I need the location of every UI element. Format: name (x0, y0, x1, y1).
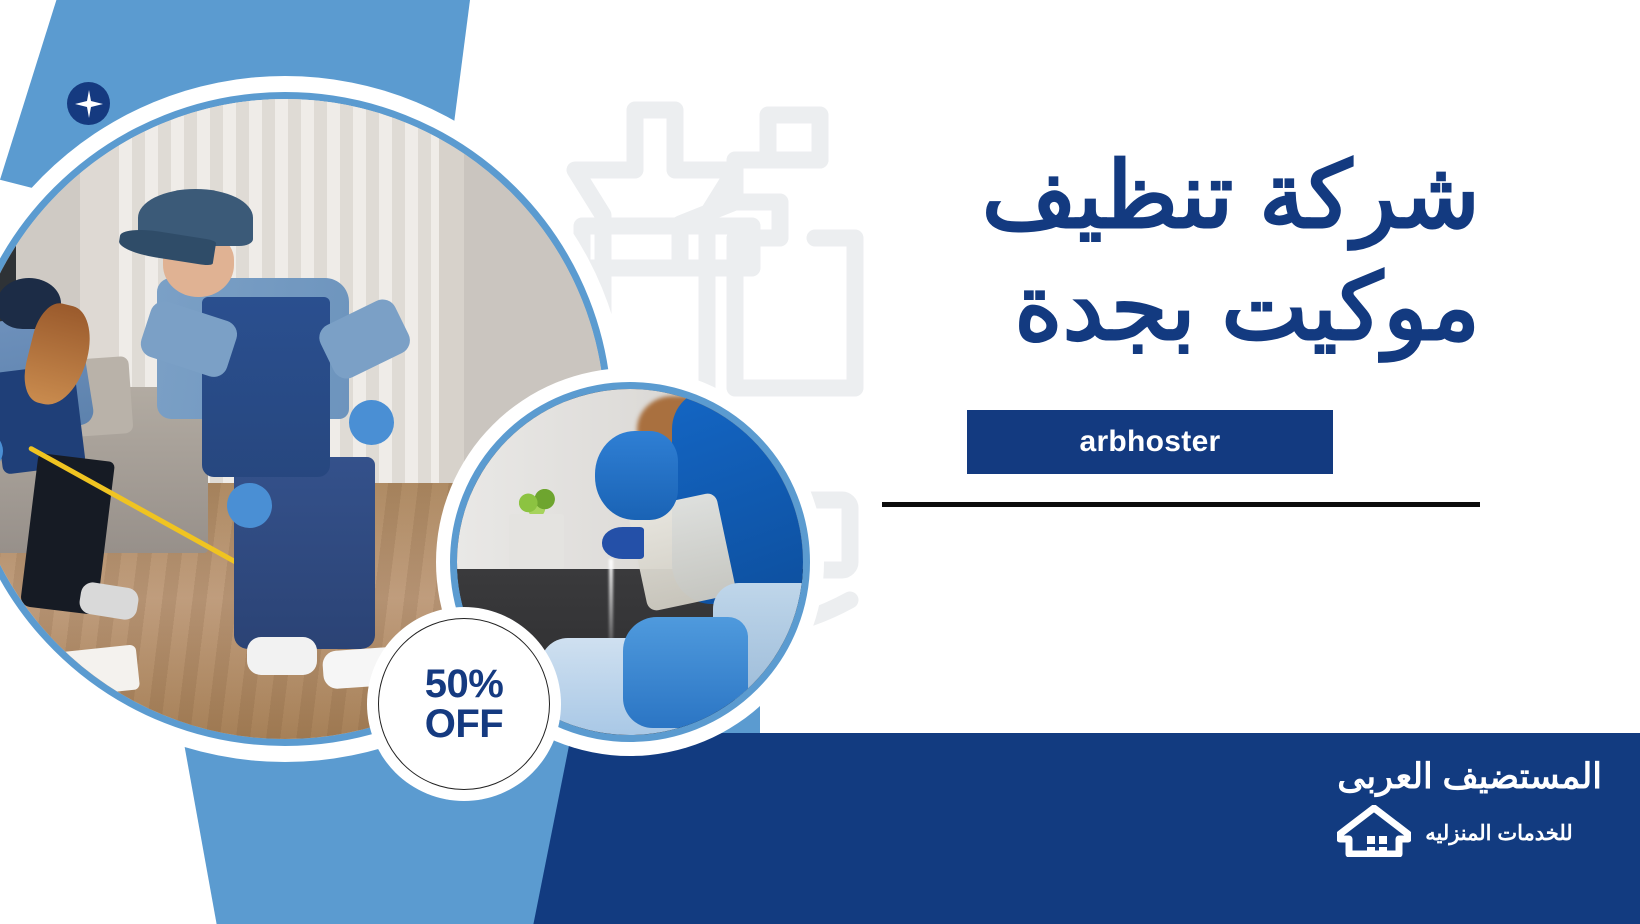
brand-logo: المستضيف العربى للخدمات المنزليه (1337, 758, 1602, 862)
brand-subtitle: للخدمات المنزليه (1425, 821, 1572, 846)
offer-badge: 50% OFF (378, 618, 550, 790)
page-title: شركة تنظيف موكيت بجدة (820, 140, 1480, 364)
cta-wrapper: arbhoster (820, 410, 1480, 474)
offer-label: OFF (425, 704, 503, 744)
house-icon (1337, 805, 1411, 862)
brand-subtitle-row: للخدمات المنزليه (1337, 805, 1602, 862)
section-divider (882, 502, 1480, 507)
headline-line-2: موكيت بجدة (820, 252, 1480, 364)
headline-line-1: شركة تنظيف (820, 140, 1480, 252)
arbhoster-button[interactable]: arbhoster (967, 410, 1333, 474)
content-column: شركة تنظيف موكيت بجدة arbhoster (820, 140, 1480, 507)
brand-name: المستضيف العربى (1337, 758, 1602, 797)
offer-percent: 50% (425, 664, 504, 704)
poster-canvas: 50% OFF شركة تنظيف موكيت بجدة arbhoster … (0, 0, 1640, 924)
